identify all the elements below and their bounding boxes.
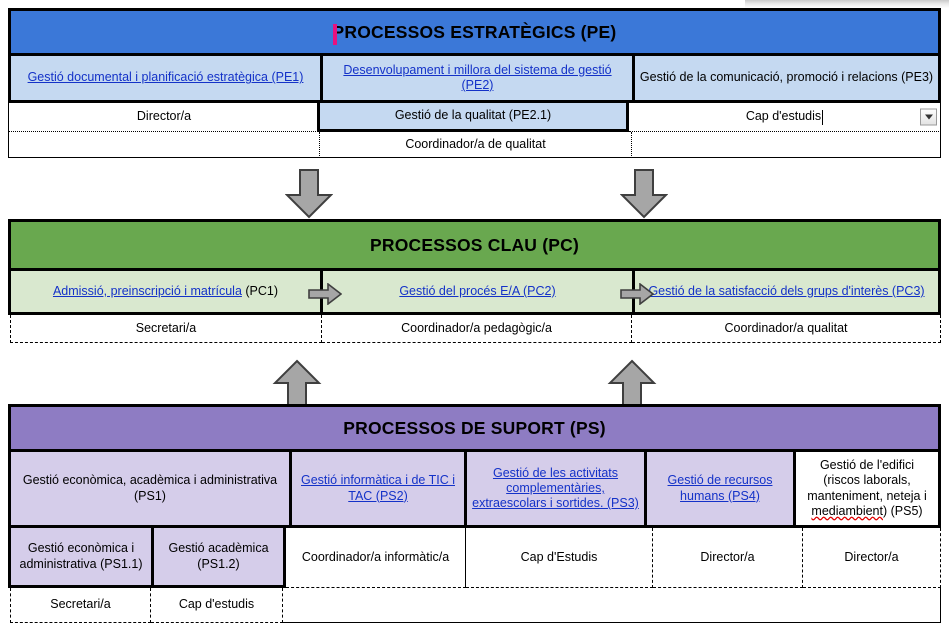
- owner-pe1-extra: [8, 132, 320, 158]
- support-band-header: PROCESSOS DE SUPORT (PS): [8, 404, 941, 452]
- subprocess-ps1-1: Gestió econòmica i administrativa (PS1.1…: [11, 528, 154, 588]
- up-arrow-ps-to-pc-left: [272, 359, 322, 409]
- subprocess-ps1-2-label: Gestió acadèmica (PS1.2): [158, 541, 279, 572]
- owner-ps4-label: Director/a: [700, 550, 754, 565]
- chevron-down-icon[interactable]: [920, 109, 937, 126]
- process-pc3[interactable]: Gestió de la satisfacció dels grups d'in…: [635, 271, 938, 312]
- process-map-canvas: PROCESSOS ESTRATÈGICS (PE) Gestió docume…: [0, 0, 949, 631]
- process-ps5-label: Gestió de l'edifici (riscos laborals, ma…: [800, 458, 934, 519]
- owner-ps3-label: Cap d'Estudis: [521, 550, 598, 565]
- process-pc1[interactable]: Admissió, preinscripció i matrícula (PC1…: [11, 271, 323, 312]
- process-pe1[interactable]: Gestió documental i planificació estratè…: [11, 56, 323, 100]
- process-ps5: Gestió de l'edifici (riscos laborals, ma…: [796, 452, 938, 525]
- process-pc1-label[interactable]: Admissió, preinscripció i matrícula: [53, 284, 242, 298]
- right-arrow-pc2-to-pc3: [620, 283, 654, 305]
- owner-pc2: Coordinador/a pedagògic/a: [322, 315, 632, 343]
- key-band-title: PROCESSOS CLAU (PC): [370, 235, 579, 256]
- owner-pc1: Secretari/a: [10, 315, 322, 343]
- process-ps2-label[interactable]: Gestió informàtica i de TIC i TAC (PS2): [296, 473, 460, 504]
- owner-pe1-label: Director/a: [137, 109, 191, 124]
- text-cursor-marker: [333, 24, 337, 45]
- owner-ps5: Director/a: [803, 528, 941, 588]
- owner-ps2-label: Coordinador/a informàtic/a: [302, 550, 449, 565]
- owner-pe2-1-label: Coordinador/a de qualitat: [405, 137, 545, 152]
- process-pe2-label[interactable]: Desenvolupament i millora del sistema de…: [327, 63, 628, 94]
- process-pe3-label: Gestió de la comunicació, promoció i rel…: [640, 70, 933, 85]
- process-pe1-label[interactable]: Gestió documental i planificació estratè…: [28, 70, 304, 85]
- owner-pe2-1: Coordinador/a de qualitat: [320, 132, 632, 158]
- owner-pc2-label: Coordinador/a pedagògic/a: [401, 321, 552, 336]
- support-band-title: PROCESSOS DE SUPORT (PS): [343, 418, 605, 439]
- key-band-header: PROCESSOS CLAU (PC): [8, 219, 941, 271]
- down-arrow-pe-to-pc-left: [285, 169, 333, 219]
- process-pe3[interactable]: Gestió de la comunicació, promoció i rel…: [635, 56, 938, 100]
- owner-ps3: Cap d'Estudis: [466, 528, 653, 588]
- subprocess-ps1-1-label: Gestió econòmica i administrativa (PS1.1…: [15, 541, 147, 572]
- owner-ps1-1-label: Secretari/a: [50, 597, 110, 612]
- process-ps1: Gestió econòmica, acadèmica i administra…: [11, 452, 292, 525]
- right-arrow-pc1-to-pc2: [308, 283, 342, 305]
- owner-pc1-label: Secretari/a: [136, 321, 196, 336]
- toolbar-sliver: [745, 0, 949, 8]
- owner-pe3-extra: [632, 132, 941, 158]
- owner-ps-empty: [283, 588, 941, 623]
- owner-ps1-2: Cap d'estudis: [151, 588, 283, 623]
- owner-ps4: Director/a: [653, 528, 803, 588]
- process-ps2[interactable]: Gestió informàtica i de TIC i TAC (PS2): [292, 452, 467, 525]
- process-ps3-label[interactable]: Gestió de les activitats complementàries…: [471, 466, 640, 512]
- owner-pe3-label[interactable]: Cap d'estudis: [746, 109, 821, 124]
- process-pc1-suffix: (PC1): [242, 284, 278, 298]
- owner-ps1-2-label: Cap d'estudis: [179, 597, 254, 612]
- text-caret: [822, 110, 823, 125]
- process-pc2-label[interactable]: Gestió del procés E/A (PC2): [399, 284, 555, 299]
- strategic-band-title: PROCESSOS ESTRATÈGICS (PE): [333, 22, 617, 43]
- process-ps3[interactable]: Gestió de les activitats complementàries…: [467, 452, 647, 525]
- down-arrow-pe-to-pc-right: [620, 169, 668, 219]
- up-arrow-ps-to-pc-right: [607, 359, 657, 409]
- strategic-band-header: PROCESSOS ESTRATÈGICS (PE): [8, 8, 941, 56]
- owner-pe1: Director/a: [8, 103, 320, 132]
- subprocess-ps1-2: Gestió acadèmica (PS1.2): [154, 528, 286, 588]
- process-pe2[interactable]: Desenvolupament i millora del sistema de…: [323, 56, 635, 100]
- process-pc3-label[interactable]: Gestió de la satisfacció dels grups d'in…: [648, 284, 924, 299]
- owner-pc3: Coordinador/a qualitat: [632, 315, 941, 343]
- subprocess-pe2-1[interactable]: Gestió de la qualitat (PE2.1): [317, 103, 629, 132]
- process-ps1-label: Gestió econòmica, acadèmica i administra…: [15, 473, 285, 504]
- owner-ps1-1: Secretari/a: [10, 588, 151, 623]
- process-pc2[interactable]: Gestió del procés E/A (PC2): [323, 271, 635, 312]
- owner-ps5-label: Director/a: [844, 550, 898, 565]
- spellcheck-word: mediambient: [811, 504, 883, 518]
- process-ps4-label[interactable]: Gestió de recursos humans (PS4): [651, 473, 789, 504]
- owner-pc3-label: Coordinador/a qualitat: [725, 321, 848, 336]
- subprocess-pe2-1-label[interactable]: Gestió de la qualitat (PE2.1): [395, 108, 551, 123]
- owner-pe3-dropdown[interactable]: Cap d'estudis: [629, 103, 941, 132]
- process-ps4[interactable]: Gestió de recursos humans (PS4): [647, 452, 796, 525]
- owner-ps2: Coordinador/a informàtic/a: [286, 528, 466, 588]
